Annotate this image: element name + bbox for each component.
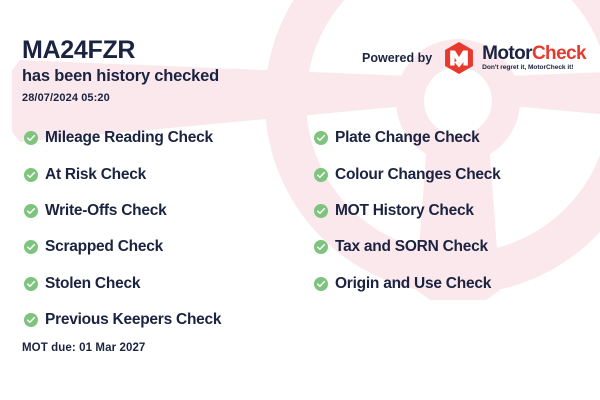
motorcheck-wordmark: MotorCheck Don't regret it, MotorCheck i… — [482, 44, 586, 72]
list-item: Write-Offs Check — [24, 193, 221, 229]
check-label: Mileage Reading Check — [45, 129, 213, 147]
list-item: Plate Change Check — [314, 120, 501, 156]
check-label: Colour Changes Check — [335, 166, 501, 184]
check-timestamp: 28/07/2024 05:20 — [22, 92, 219, 104]
check-circle-icon — [24, 313, 38, 327]
check-label: Write-Offs Check — [45, 202, 166, 220]
check-label: Previous Keepers Check — [45, 311, 221, 329]
list-item: Mileage Reading Check — [24, 120, 221, 156]
logo-word-motor: Motor — [482, 43, 532, 64]
list-item: At Risk Check — [24, 156, 221, 192]
list-item: MOT History Check — [314, 193, 501, 229]
list-item: Origin and Use Check — [314, 266, 501, 302]
check-label: Plate Change Check — [335, 129, 480, 147]
vehicle-history-check-card: MA24FZR has been history checked 28/07/2… — [0, 0, 600, 400]
check-circle-icon — [314, 240, 328, 254]
check-circle-icon — [314, 131, 328, 145]
check-circle-icon — [24, 277, 38, 291]
check-circle-icon — [24, 168, 38, 182]
check-circle-icon — [24, 240, 38, 254]
check-label: Tax and SORN Check — [335, 238, 488, 256]
check-circle-icon — [24, 204, 38, 218]
check-circle-icon — [24, 131, 38, 145]
vehicle-registration-plate: MA24FZR — [22, 36, 219, 64]
checks-left-column: Mileage Reading Check At Risk Check Writ… — [24, 120, 221, 338]
powered-by-label: Powered by — [362, 51, 432, 65]
list-item: Previous Keepers Check — [24, 302, 221, 338]
header-subtitle: has been history checked — [22, 66, 219, 87]
powered-by-branding: Powered by MotorCheck Don't regret it, M… — [362, 41, 586, 75]
check-circle-icon — [314, 168, 328, 182]
logo-tagline: Don't regret it, MotorCheck it! — [482, 65, 586, 72]
motorcheck-logo[interactable]: MotorCheck Don't regret it, MotorCheck i… — [442, 41, 586, 75]
logo-word-row: MotorCheck — [482, 44, 586, 63]
check-label: Stolen Check — [45, 275, 140, 293]
check-label: MOT History Check — [335, 202, 474, 220]
check-circle-icon — [314, 204, 328, 218]
check-label: Origin and Use Check — [335, 275, 491, 293]
check-circle-icon — [314, 277, 328, 291]
checks-right-column: Plate Change Check Colour Changes Check … — [314, 120, 501, 302]
check-label: Scrapped Check — [45, 238, 163, 256]
motorcheck-hexagon-m-icon — [442, 41, 476, 75]
logo-word-check: Check — [532, 43, 586, 64]
mot-due-label: MOT due: 01 Mar 2027 — [22, 342, 145, 354]
list-item: Scrapped Check — [24, 229, 221, 265]
check-label: At Risk Check — [45, 166, 146, 184]
list-item: Stolen Check — [24, 266, 221, 302]
list-item: Colour Changes Check — [314, 156, 501, 192]
list-item: Tax and SORN Check — [314, 229, 501, 265]
header: MA24FZR has been history checked 28/07/2… — [22, 36, 219, 104]
